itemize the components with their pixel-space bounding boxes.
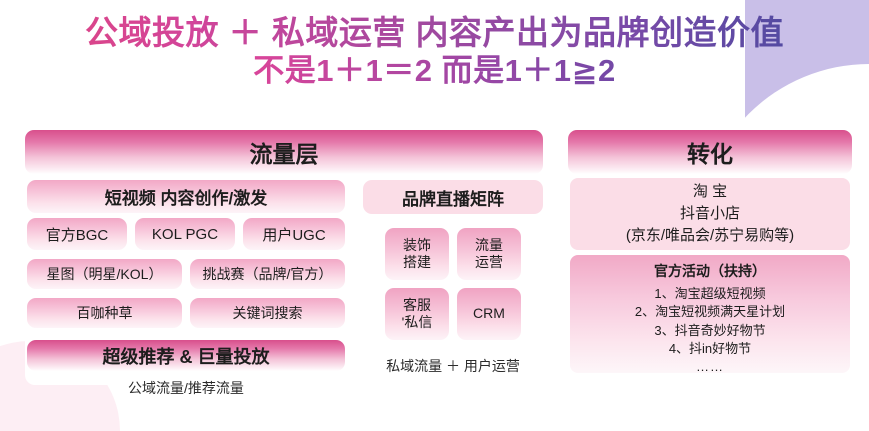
creator-row: 官方BGC KOL PGC 用户UGC bbox=[27, 218, 345, 250]
private-traffic-caption: 私域流量 ＋ 用户运营 bbox=[343, 356, 563, 376]
short-video-column: 短视频 内容创作/激发 官方BGC KOL PGC 用户UGC 星图（明星/KO… bbox=[27, 180, 347, 380]
tool-chip-challenge[interactable]: 挑战赛（品牌/官方） bbox=[190, 259, 345, 289]
creator-chip-kol[interactable]: KOL PGC bbox=[135, 218, 235, 250]
shop-others: (京东/唯品会/苏宁易购等) bbox=[626, 225, 794, 247]
live-matrix-column: 品牌直播矩阵 装饰 搭建 流量 运营 客服 bbox=[363, 180, 543, 385]
conversion-header: 转化 bbox=[568, 130, 852, 174]
matrix-box-crm[interactable]: CRM bbox=[457, 288, 521, 340]
creator-chip-ugc[interactable]: 用户UGC bbox=[243, 218, 345, 250]
channels-row: 百咖种草 关键词搜索 bbox=[27, 298, 345, 328]
list-item: 2、淘宝短视频满天星计划 bbox=[570, 303, 850, 321]
slide-title: 公域投放 ＋ 私域运营 内容产出为品牌创造价值 不是1＋1＝2 而是1＋1≧2 bbox=[0, 14, 869, 90]
channel-chip-baika[interactable]: 百咖种草 bbox=[27, 298, 182, 328]
matrix-box-decor-line1: 装饰 bbox=[403, 237, 431, 253]
conversion-panel: 转化 淘 宝 抖音小店 (京东/唯品会/苏宁易购等) 官方活动（扶持） 1、淘宝… bbox=[568, 130, 852, 383]
public-traffic-caption: 公域流量/推荐流量 bbox=[27, 378, 345, 398]
official-activities-box: 官方活动（扶持） 1、淘宝超级短视频 2、淘宝短视频满天星计划 3、抖音奇妙好物… bbox=[570, 255, 850, 373]
shops-box: 淘 宝 抖音小店 (京东/唯品会/苏宁易购等) bbox=[570, 178, 850, 250]
list-item: 3、抖音奇妙好物节 bbox=[570, 322, 850, 340]
matrix-box-service[interactable]: 客服 '私信 bbox=[385, 288, 449, 340]
matrix-box-traffic-line1: 流量 bbox=[475, 237, 503, 253]
live-matrix-grid: 装饰 搭建 流量 运营 客服 '私信 CR bbox=[385, 228, 521, 340]
shop-taobao: 淘 宝 bbox=[693, 181, 727, 203]
short-video-title: 短视频 内容创作/激发 bbox=[27, 180, 345, 213]
live-matrix-title: 品牌直播矩阵 bbox=[363, 180, 543, 214]
traffic-layer-panel: 流量层 短视频 内容创作/激发 官方BGC KOL PGC 用户UGC 星图（明… bbox=[25, 130, 543, 385]
list-item: 1、淘宝超级短视频 bbox=[570, 285, 850, 303]
matrix-box-traffic[interactable]: 流量 运营 bbox=[457, 228, 521, 280]
matrix-box-decor-line2: 搭建 bbox=[403, 254, 431, 270]
title-line-2: 不是1＋1＝2 而是1＋1≧2 bbox=[0, 53, 869, 90]
list-item: 4、抖in好物节 bbox=[570, 340, 850, 358]
matrix-box-decor[interactable]: 装饰 搭建 bbox=[385, 228, 449, 280]
matrix-box-traffic-line2: 运营 bbox=[475, 254, 503, 270]
tool-chip-xingtu[interactable]: 星图（明星/KOL） bbox=[27, 259, 182, 289]
traffic-layer-header: 流量层 bbox=[25, 130, 543, 174]
official-activities-list: 1、淘宝超级短视频 2、淘宝短视频满天星计划 3、抖音奇妙好物节 4、抖in好物… bbox=[570, 285, 850, 359]
creator-chip-bgc[interactable]: 官方BGC bbox=[27, 218, 127, 250]
channel-chip-keyword[interactable]: 关键词搜索 bbox=[190, 298, 345, 328]
official-activities-title: 官方活动（扶持） bbox=[570, 261, 850, 281]
title-line-1: 公域投放 ＋ 私域运营 内容产出为品牌创造价值 bbox=[0, 14, 869, 53]
matrix-box-crm-label: CRM bbox=[473, 305, 505, 323]
shop-douyin: 抖音小店 bbox=[680, 203, 740, 225]
tools-row: 星图（明星/KOL） 挑战赛（品牌/官方） bbox=[27, 259, 345, 289]
activities-ellipsis: …… bbox=[570, 359, 850, 374]
matrix-box-service-line2: '私信 bbox=[402, 314, 433, 330]
super-recommend-bar: 超级推荐 & 巨量投放 bbox=[27, 340, 345, 371]
matrix-box-service-line1: 客服 bbox=[403, 297, 431, 313]
slide-canvas: 公域投放 ＋ 私域运营 内容产出为品牌创造价值 不是1＋1＝2 而是1＋1≧2 … bbox=[0, 0, 869, 431]
